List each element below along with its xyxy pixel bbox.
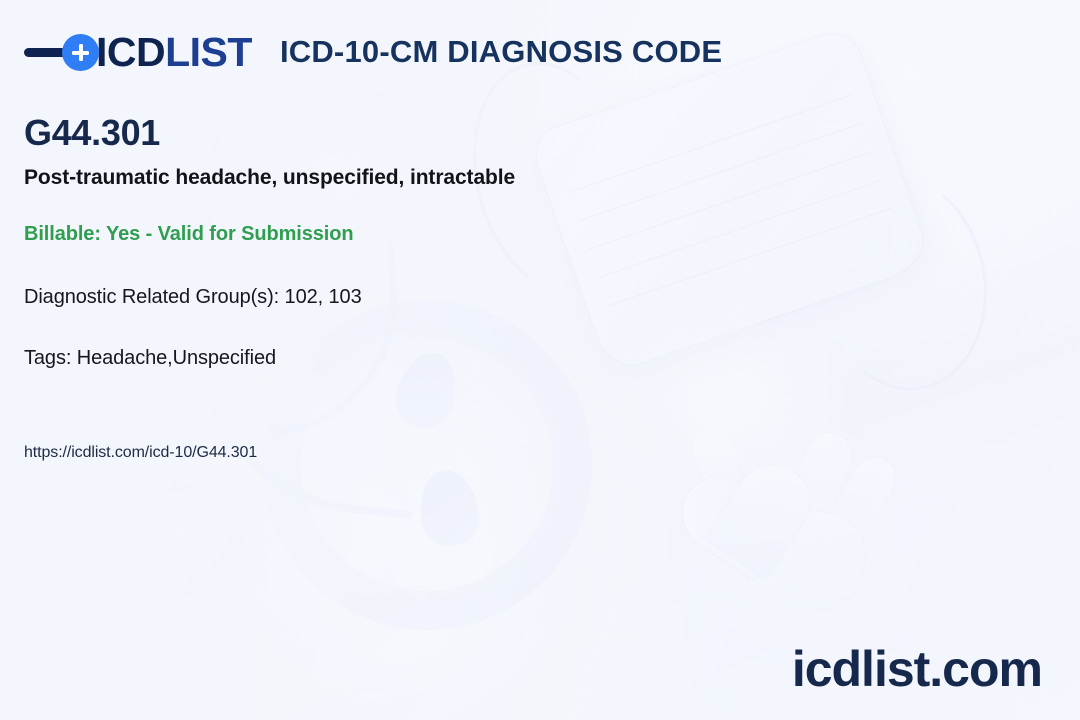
logo-wordmark-secondary: LIST — [165, 29, 252, 75]
icdlist-logo[interactable]: ICDLIST — [24, 24, 252, 80]
diagnostic-related-groups: Diagnostic Related Group(s): 102, 103 — [24, 286, 362, 309]
footer-brand: icdlist.com — [792, 644, 1042, 694]
logo-wordmark-primary: ICD — [96, 29, 165, 75]
plus-circle-icon — [62, 34, 99, 71]
card-content: ICDLIST ICD-10-CM DIAGNOSIS CODE G44.301… — [0, 0, 1080, 720]
diagnosis-code: G44.301 — [24, 112, 160, 154]
tags-list: Tags: Headache,Unspecified — [24, 347, 276, 370]
card-header: ICDLIST ICD-10-CM DIAGNOSIS CODE — [24, 24, 1056, 80]
billable-status: Billable: Yes - Valid for Submission — [24, 223, 353, 246]
code-url[interactable]: https://icdlist.com/icd-10/G44.301 — [24, 444, 257, 462]
logo-wordmark: ICDLIST — [96, 32, 252, 73]
icd-code-card: ICDLIST ICD-10-CM DIAGNOSIS CODE G44.301… — [0, 0, 1080, 720]
page-title: ICD-10-CM DIAGNOSIS CODE — [280, 34, 722, 70]
diagnosis-description: Post-traumatic headache, unspecified, in… — [24, 166, 515, 190]
